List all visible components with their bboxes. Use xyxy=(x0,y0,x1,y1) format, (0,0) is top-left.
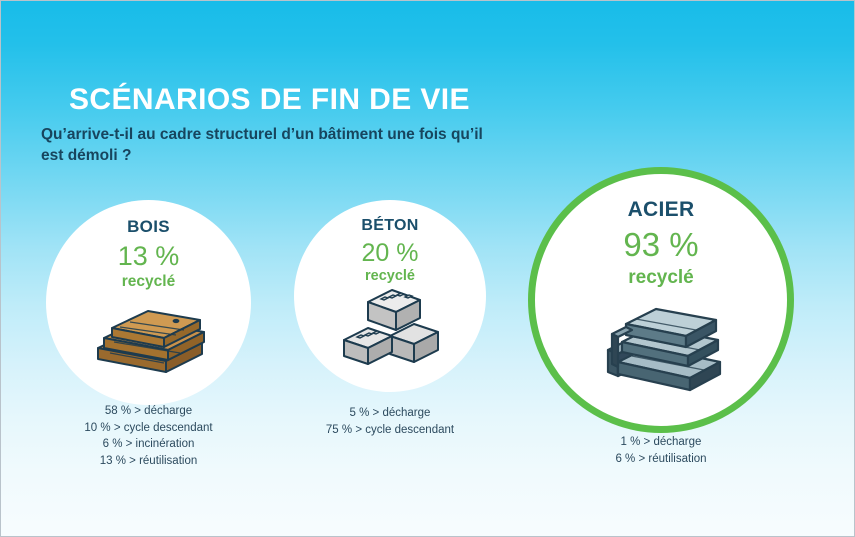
fate-list-bois: 58 % > décharge 10 % > cycle descendant … xyxy=(46,403,251,469)
fate-item: 10 % > cycle descendant xyxy=(46,420,251,437)
fate-item: 13 % > réutilisation xyxy=(46,453,251,470)
material-name-acier: ACIER xyxy=(535,199,787,220)
header: SCÉNARIOS DE FIN DE VIE Qu’arrive-t-il a… xyxy=(69,84,609,167)
page-subtitle: Qu’arrive-t-il au cadre structurel d’un … xyxy=(41,125,501,167)
page-title: SCÉNARIOS DE FIN DE VIE xyxy=(69,84,609,116)
material-recycled-label-beton: recyclé xyxy=(294,269,486,284)
icon-holder-beton xyxy=(294,284,486,366)
steel-beams-icon xyxy=(596,290,726,398)
material-percent-acier: 93 % xyxy=(535,228,787,263)
infographic-root: SCÉNARIOS DE FIN DE VIE Qu’arrive-t-il a… xyxy=(0,0,855,537)
material-name-bois: BOIS xyxy=(46,218,251,235)
fate-item: 75 % > cycle descendant xyxy=(290,422,490,439)
icon-holder-acier xyxy=(535,290,787,398)
material-circle-acier: ACIER 93 % recyclé xyxy=(528,167,794,433)
material-circle-bois: BOIS 13 % recyclé xyxy=(46,200,251,405)
material-circle-beton: BÉTON 20 % recyclé xyxy=(294,200,486,392)
material-percent-bois: 13 % xyxy=(46,242,251,270)
fate-item: 6 % > réutilisation xyxy=(528,451,794,468)
fate-list-beton: 5 % > décharge 75 % > cycle descendant xyxy=(290,405,490,438)
icon-holder-bois xyxy=(46,301,251,375)
fate-item: 6 % > incinération xyxy=(46,436,251,453)
material-recycled-label-acier: recyclé xyxy=(535,268,787,287)
material-recycled-label-bois: recyclé xyxy=(46,274,251,290)
fate-item: 58 % > décharge xyxy=(46,403,251,420)
fate-item: 1 % > décharge xyxy=(528,434,794,451)
wood-knot-icon xyxy=(172,319,179,323)
fate-item: 5 % > décharge xyxy=(290,405,490,422)
concrete-blocks-icon xyxy=(338,284,442,366)
material-name-beton: BÉTON xyxy=(294,218,486,234)
fate-list-acier: 1 % > décharge 6 % > réutilisation xyxy=(528,434,794,467)
wood-planks-icon xyxy=(90,301,208,375)
material-percent-beton: 20 % xyxy=(294,240,486,266)
